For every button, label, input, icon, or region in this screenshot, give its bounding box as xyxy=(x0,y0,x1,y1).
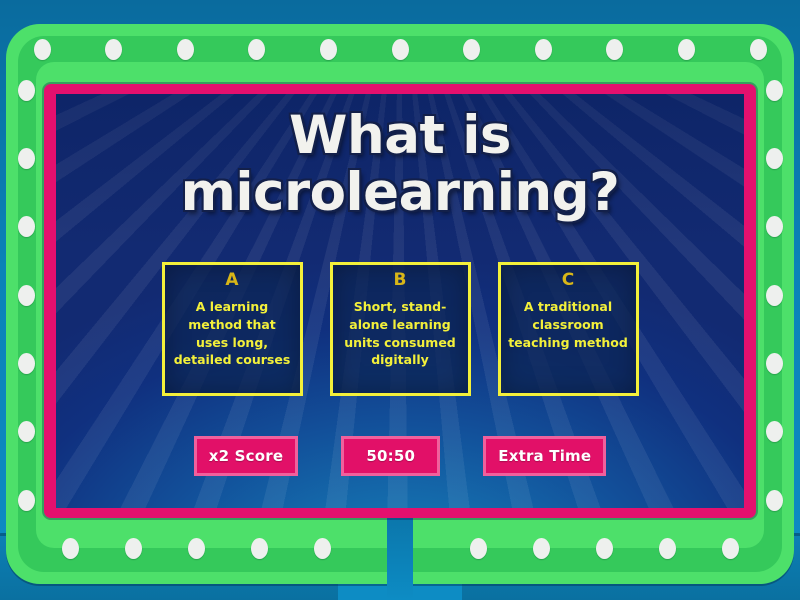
marquee-light-dot xyxy=(766,80,783,101)
marquee-light-dot xyxy=(251,538,268,559)
marquee-light-dot xyxy=(766,285,783,306)
marquee-light-dot xyxy=(766,353,783,374)
marquee-light-dot xyxy=(314,538,331,559)
powerup-fifty-fifty[interactable]: 50:50 xyxy=(341,436,440,476)
marquee-light-dot xyxy=(62,538,79,559)
marquee-light-dot xyxy=(766,216,783,237)
question-line-1: What is xyxy=(56,108,744,165)
marquee-light-dot xyxy=(105,39,122,60)
marquee-light-dot xyxy=(34,39,51,60)
answer-text-a: A learning method that uses long, detail… xyxy=(165,298,300,369)
marquee-light-dot xyxy=(18,421,35,442)
marquee-light-dot xyxy=(766,148,783,169)
marquee-light-dot xyxy=(722,538,739,559)
question-title: What is microlearning? xyxy=(56,108,744,221)
marquee-light-dot xyxy=(320,39,337,60)
powerup-x2-score[interactable]: x2 Score xyxy=(194,436,299,476)
marquee-light-dot xyxy=(18,490,35,511)
quiz-game-screen: What is microlearning? A A learning meth… xyxy=(0,0,800,600)
marquee-light-dot xyxy=(188,538,205,559)
marquee-light-dot xyxy=(248,39,265,60)
marquee-light-dot xyxy=(18,216,35,237)
marquee-light-dot xyxy=(177,39,194,60)
answer-text-c: A traditional classroom teaching method xyxy=(501,298,636,351)
powerup-bar: x2 Score 50:50 Extra Time xyxy=(56,436,744,476)
question-board: What is microlearning? A A learning meth… xyxy=(56,94,744,508)
answer-letter-c: C xyxy=(562,272,574,289)
marquee-light-dot xyxy=(596,538,613,559)
marquee-light-dot xyxy=(535,39,552,60)
marquee-light-dot xyxy=(18,353,35,374)
marquee-light-dot xyxy=(470,538,487,559)
answer-options: A A learning method that uses long, deta… xyxy=(56,262,744,396)
marquee-light-dot xyxy=(659,538,676,559)
answer-text-b: Short, stand-alone learning units consum… xyxy=(333,298,468,369)
answer-option-c[interactable]: C A traditional classroom teaching metho… xyxy=(498,262,639,396)
marquee-light-dot xyxy=(766,490,783,511)
marquee-light-dot xyxy=(766,421,783,442)
marquee-light-dot xyxy=(18,285,35,306)
marquee-light-dot xyxy=(18,80,35,101)
question-line-2: microlearning? xyxy=(56,165,744,222)
marquee-light-dot xyxy=(392,39,409,60)
marquee-light-dot xyxy=(125,538,142,559)
answer-letter-a: A xyxy=(225,272,238,289)
answer-letter-b: B xyxy=(394,272,407,289)
answer-option-a[interactable]: A A learning method that uses long, deta… xyxy=(162,262,303,396)
powerup-extra-time[interactable]: Extra Time xyxy=(483,436,606,476)
marquee-light-dot xyxy=(463,39,480,60)
marquee-light-dot xyxy=(533,538,550,559)
marquee-light-dot xyxy=(750,39,767,60)
marquee-light-dot xyxy=(18,148,35,169)
marquee-light-dot xyxy=(678,39,695,60)
answer-option-b[interactable]: B Short, stand-alone learning units cons… xyxy=(330,262,471,396)
marquee-light-dot xyxy=(606,39,623,60)
